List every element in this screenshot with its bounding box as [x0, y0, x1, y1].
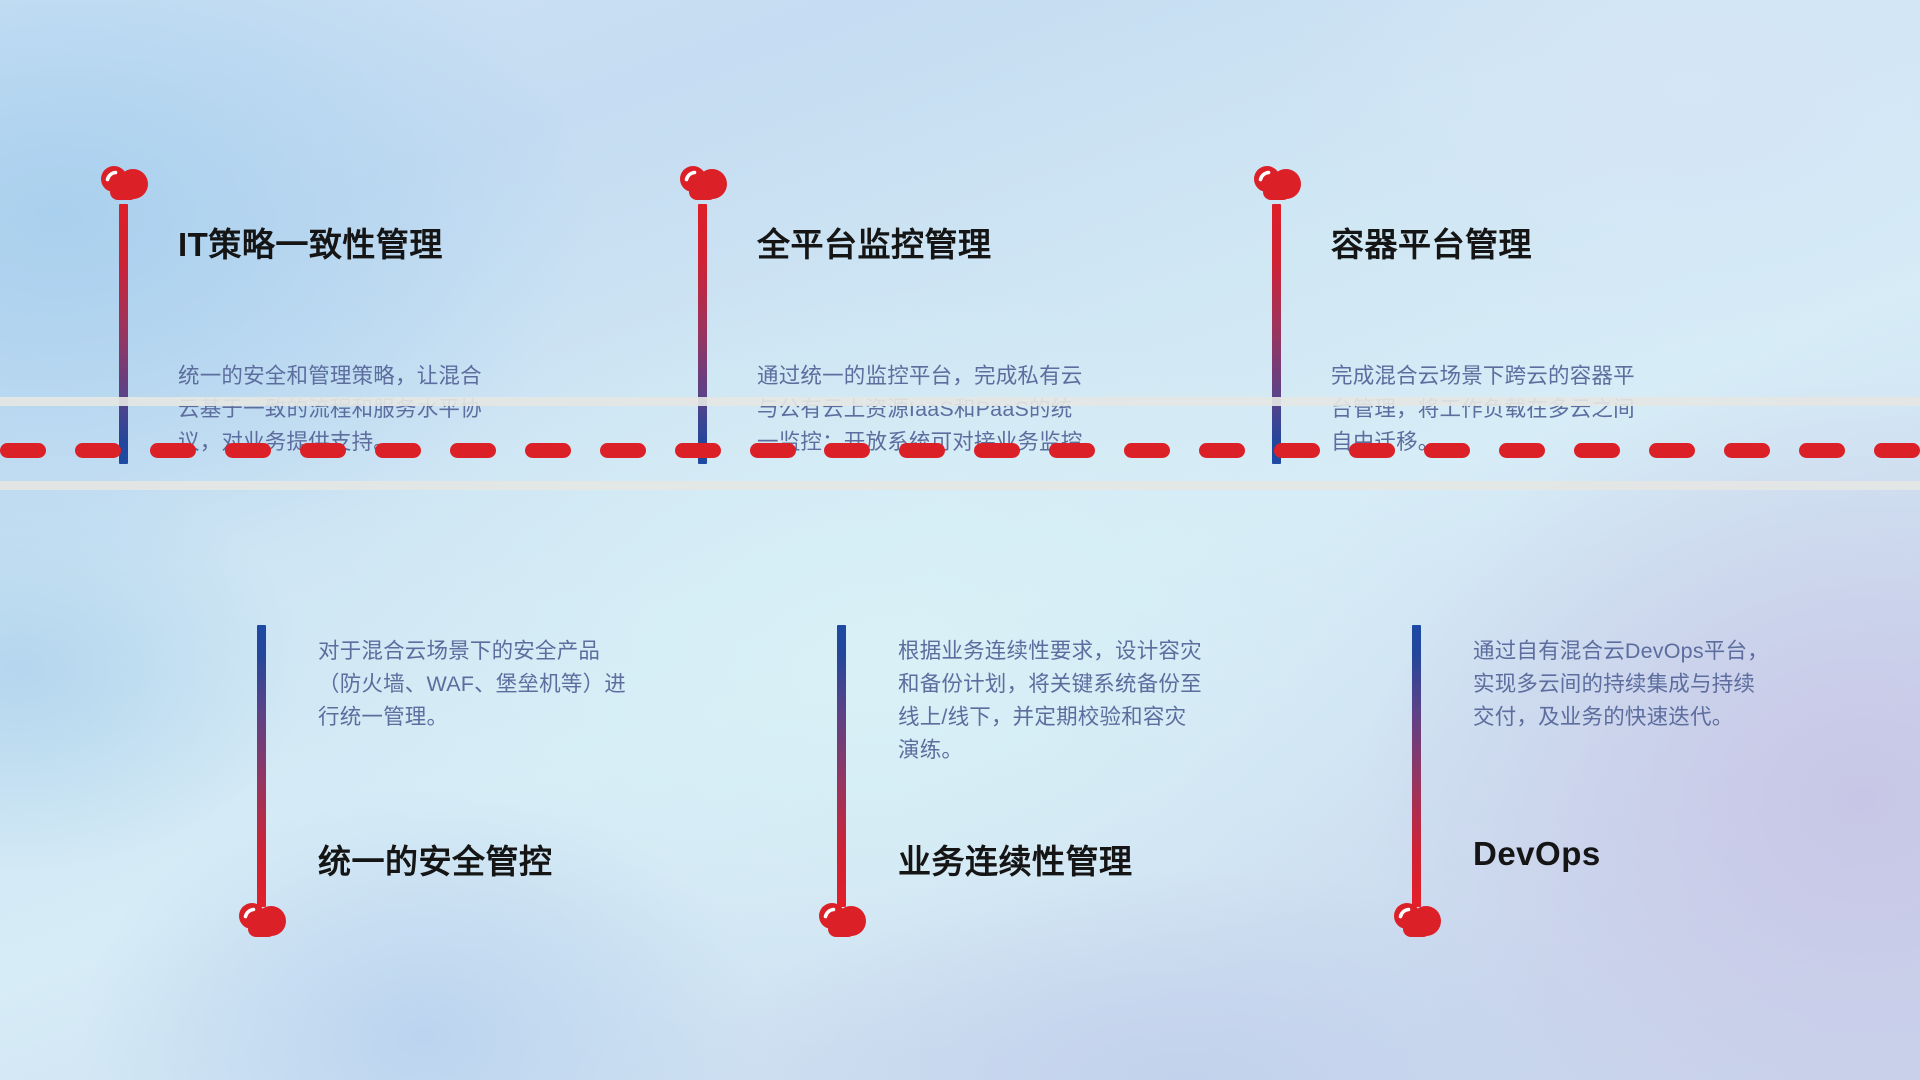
- divider-dash: [974, 443, 1020, 458]
- card-body-line: 通过统一的监控平台，完成私有云: [757, 360, 1187, 393]
- divider-dash: [1124, 443, 1170, 458]
- divider-dash: [1349, 443, 1395, 458]
- divider-dash: [1649, 443, 1695, 458]
- divider-dash: [300, 443, 346, 458]
- card-body-line: 线上/线下，并定期校验和容灾: [898, 701, 1328, 734]
- card-body-line: （防火墙、WAF、堡垒机等）进: [318, 668, 738, 701]
- divider-line-top: [0, 397, 1920, 406]
- divider-dash: [150, 443, 196, 458]
- card-body-line: 交付，及业务的快速迭代。: [1473, 701, 1903, 734]
- divider-dash: [1724, 443, 1770, 458]
- card-body: 通过自有混合云DevOps平台， 实现多云间的持续集成与持续 交付，及业务的快速…: [1473, 635, 1903, 734]
- divider-line-bottom: [0, 481, 1920, 490]
- connector-stem: [1272, 204, 1281, 464]
- connector-stem: [837, 625, 846, 907]
- divider-dash: [1874, 443, 1920, 458]
- divider-dash: [0, 443, 46, 458]
- card-body-line: 对于混合云场景下的安全产品: [318, 635, 738, 668]
- connector-stem: [119, 204, 128, 464]
- card-body-line: 行统一管理。: [318, 701, 738, 734]
- card-title: IT策略一致性管理: [178, 218, 443, 266]
- divider-dash: [225, 443, 271, 458]
- divider-dash: [1574, 443, 1620, 458]
- divider-dash: [1274, 443, 1320, 458]
- cloud-icon: [92, 160, 154, 206]
- divider-dash: [824, 443, 870, 458]
- divider-dash: [525, 443, 571, 458]
- connector-stem: [698, 204, 707, 464]
- card-body-line: 通过自有混合云DevOps平台，: [1473, 635, 1903, 668]
- infographic-canvas: IT策略一致性管理 统一的安全和管理策略，让混合 云基于一致的流程和服务水平协 …: [0, 0, 1920, 1080]
- divider-dash: [1049, 443, 1095, 458]
- card-title: 全平台监控管理: [757, 218, 992, 266]
- cloud-icon: [1245, 160, 1307, 206]
- connector-stem: [257, 625, 266, 907]
- divider-dash: [1499, 443, 1545, 458]
- cloud-icon: [230, 897, 292, 943]
- divider-dash: [600, 443, 646, 458]
- card-title: DevOps: [1473, 835, 1601, 873]
- divider-dashed-line: [0, 443, 1920, 458]
- divider-dash: [375, 443, 421, 458]
- card-title: 统一的安全管控: [318, 835, 553, 883]
- card-body-line: 实现多云间的持续集成与持续: [1473, 668, 1903, 701]
- card-body: 根据业务连续性要求，设计容灾 和备份计划，将关键系统备份至 线上/线下，并定期校…: [898, 635, 1328, 767]
- divider-dash: [1199, 443, 1245, 458]
- divider-dash: [899, 443, 945, 458]
- card-body-line: 统一的安全和管理策略，让混合: [178, 360, 598, 393]
- card-body-line: 完成混合云场景下跨云的容器平: [1331, 360, 1761, 393]
- cloud-icon: [671, 160, 733, 206]
- cloud-icon: [810, 897, 872, 943]
- card-title: 业务连续性管理: [898, 835, 1133, 883]
- card-title: 容器平台管理: [1331, 218, 1532, 266]
- card-body: 对于混合云场景下的安全产品 （防火墙、WAF、堡垒机等）进 行统一管理。: [318, 635, 738, 734]
- divider-dash: [1799, 443, 1845, 458]
- divider-dash: [675, 443, 721, 458]
- divider-dash: [450, 443, 496, 458]
- divider-dash: [1424, 443, 1470, 458]
- divider-dash: [75, 443, 121, 458]
- card-body-line: 根据业务连续性要求，设计容灾: [898, 635, 1328, 668]
- connector-stem: [1412, 625, 1421, 907]
- card-body-line: 和备份计划，将关键系统备份至: [898, 668, 1328, 701]
- cloud-icon: [1385, 897, 1447, 943]
- divider-dash: [750, 443, 796, 458]
- card-body-line: 演练。: [898, 734, 1328, 767]
